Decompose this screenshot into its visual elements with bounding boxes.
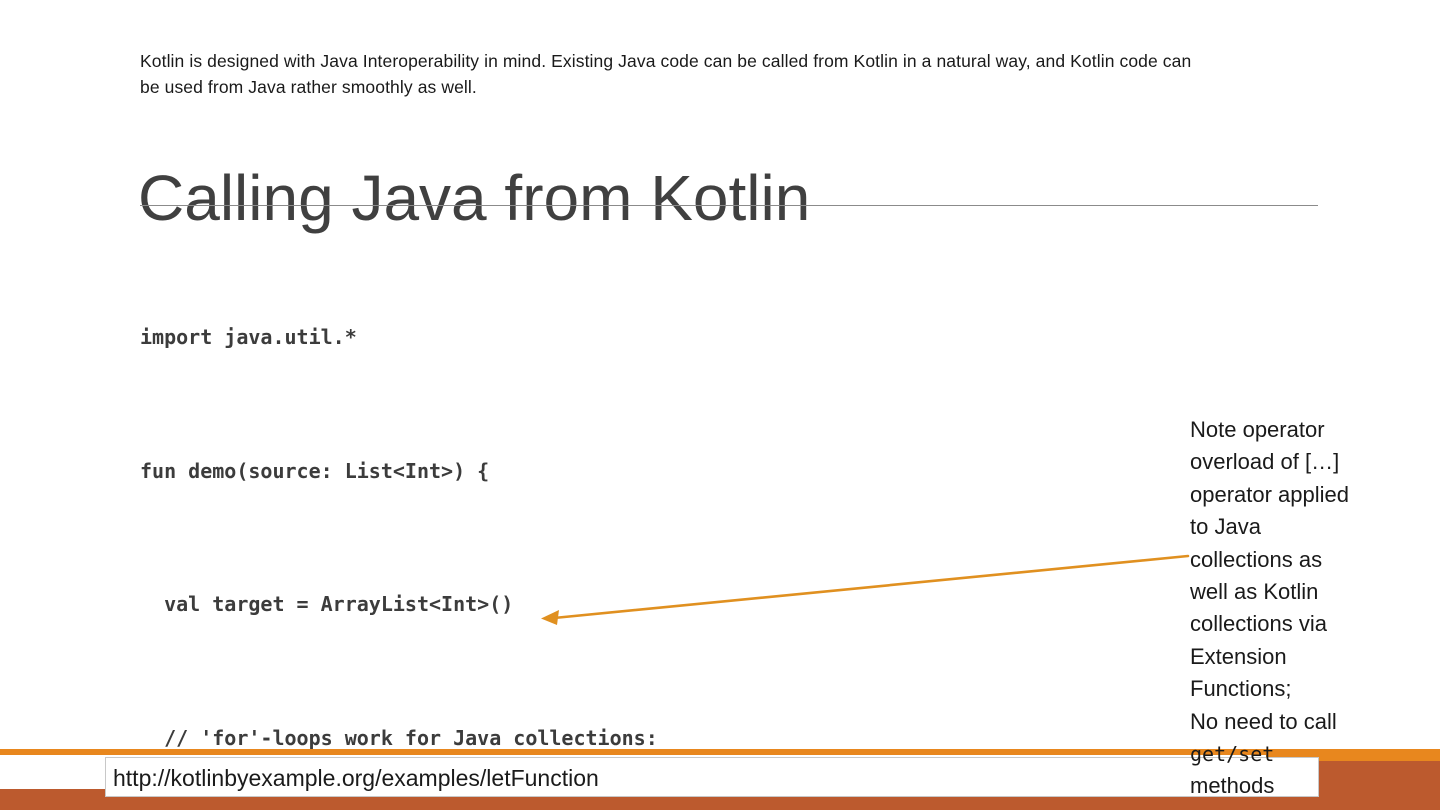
code-line: import java.util.*	[140, 315, 1140, 360]
annotation-line: Extension	[1190, 641, 1426, 673]
annotation-line: Functions;	[1190, 673, 1426, 705]
title-underline-rule	[140, 205, 1318, 206]
annotation-line: Note operator	[1190, 414, 1426, 446]
annotation-callout: Note operator overload of […] operator a…	[1190, 414, 1426, 803]
code-block: import java.util.* fun demo(source: List…	[140, 226, 1140, 810]
annotation-line: to Java	[1190, 511, 1426, 543]
code-line: val target = ArrayList<Int>()	[140, 582, 1140, 627]
annotation-line-mono: get/set	[1190, 738, 1426, 770]
code-line: fun demo(source: List<Int>) {	[140, 449, 1140, 494]
annotation-line: collections as	[1190, 544, 1426, 576]
intro-paragraph: Kotlin is designed with Java Interoperab…	[140, 48, 1210, 100]
annotation-line: well as Kotlin	[1190, 576, 1426, 608]
annotation-line: overload of […]	[1190, 446, 1426, 478]
annotation-line: operator applied	[1190, 479, 1426, 511]
annotation-line: methods	[1190, 770, 1426, 802]
slide-canvas: Kotlin is designed with Java Interoperab…	[0, 0, 1440, 810]
annotation-line: collections via	[1190, 608, 1426, 640]
url-text[interactable]: http://kotlinbyexample.org/examples/letF…	[113, 762, 599, 794]
annotation-line: No need to call	[1190, 706, 1426, 738]
